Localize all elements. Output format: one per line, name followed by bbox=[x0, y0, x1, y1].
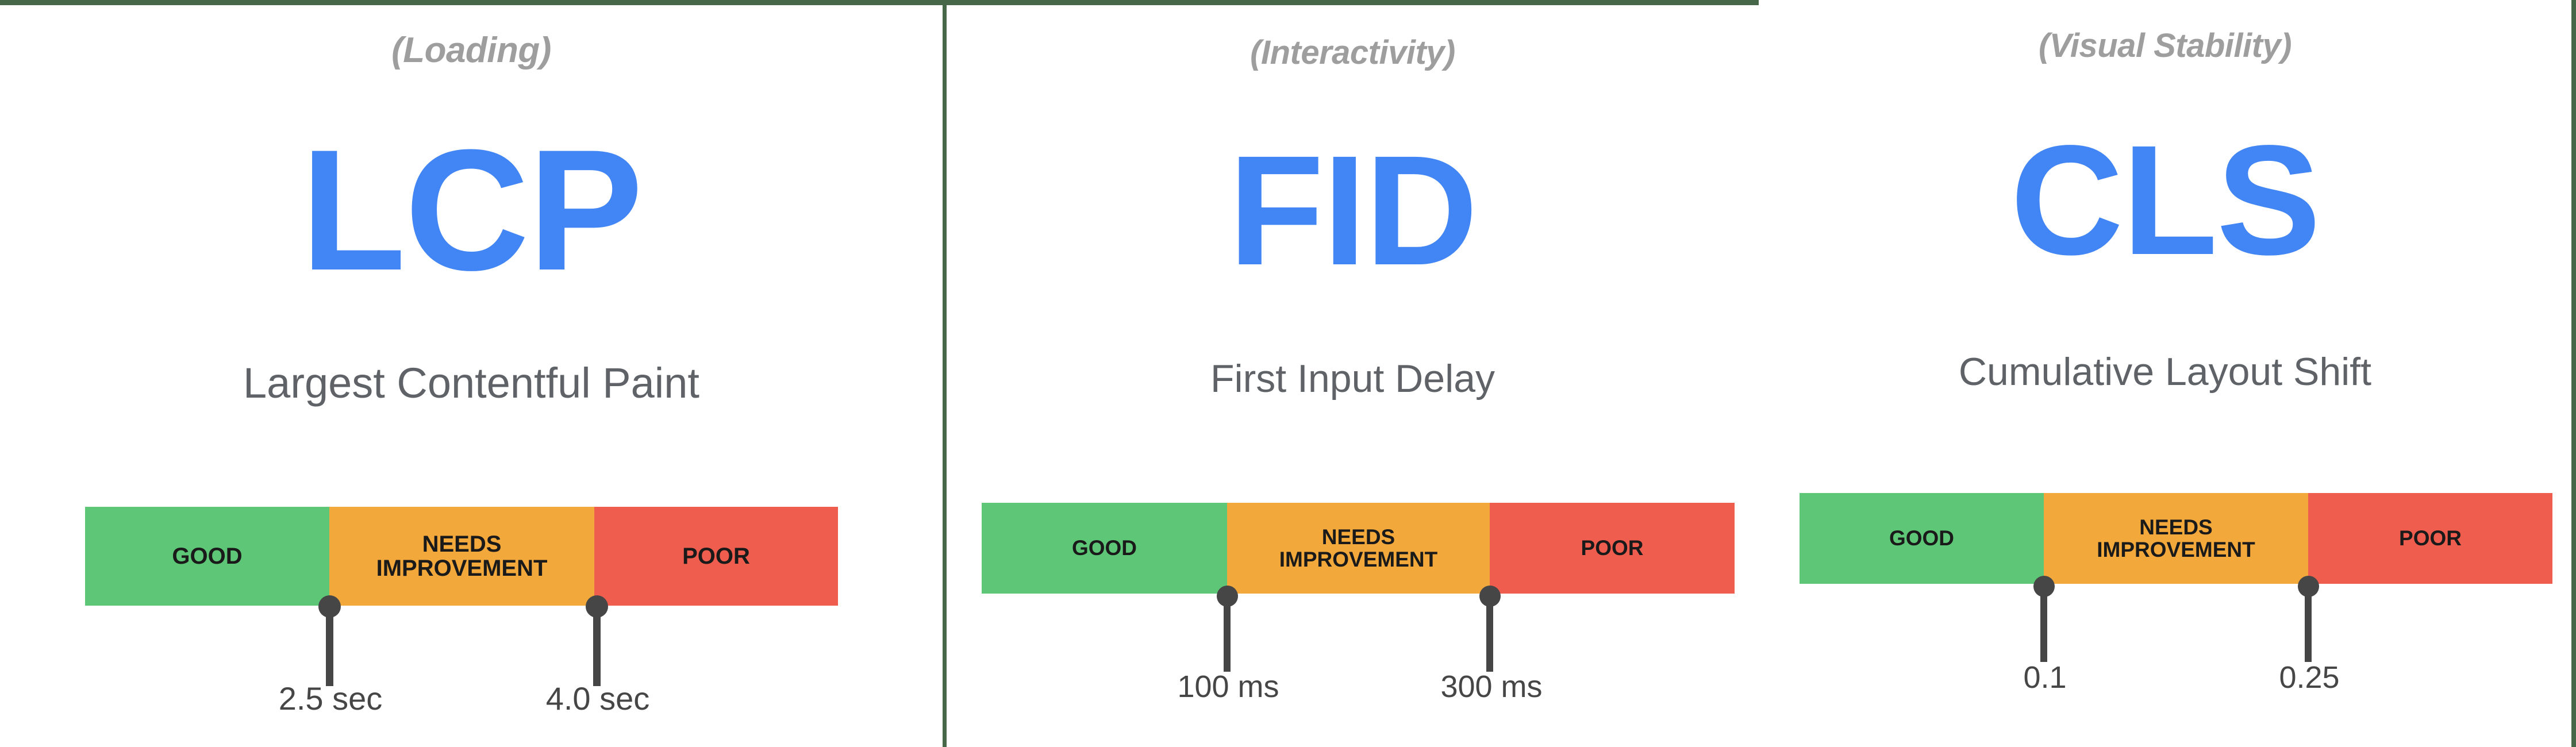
segment-needs-line1: NEEDS bbox=[1322, 525, 1395, 549]
metric-full-name: Largest Contentful Paint bbox=[0, 359, 943, 407]
threshold-label-first: 100 ms bbox=[1177, 669, 1279, 704]
segment-needs-improvement: NEEDS IMPROVEMENT bbox=[329, 507, 594, 606]
threshold-label-second: 4.0 sec bbox=[546, 680, 650, 717]
segment-needs-improvement: NEEDS IMPROVEMENT bbox=[2044, 493, 2308, 584]
metric-acronym: CLS bbox=[1759, 122, 2571, 278]
threshold-label-first: 0.1 bbox=[2023, 660, 2066, 695]
threshold-label-second: 300 ms bbox=[1440, 669, 1542, 704]
metric-acronym: LCP bbox=[0, 124, 943, 296]
segment-needs-line1: NEEDS bbox=[2139, 515, 2212, 539]
marker-stem bbox=[593, 613, 601, 686]
metric-category-label: (Visual Stability) bbox=[1759, 26, 2571, 65]
segment-needs-line2: IMPROVEMENT bbox=[1279, 548, 1437, 571]
segment-good: GOOD bbox=[1800, 493, 2044, 584]
segment-poor: POOR bbox=[1490, 503, 1735, 594]
marker-stem bbox=[1224, 602, 1231, 672]
metric-full-name: First Input Delay bbox=[947, 356, 1759, 401]
threshold-bar: GOOD NEEDS IMPROVEMENT POOR bbox=[982, 503, 1735, 594]
metric-category-label: (Interactivity) bbox=[947, 33, 1759, 72]
panel-divider-left bbox=[943, 0, 947, 747]
segment-needs-line1: NEEDS bbox=[422, 532, 502, 557]
core-web-vitals-infographic: (Loading) LCP Largest Contentful Paint G… bbox=[0, 0, 2576, 747]
marker-stem bbox=[1486, 602, 1493, 672]
threshold-bar: GOOD NEEDS IMPROVEMENT POOR bbox=[1800, 493, 2552, 584]
threshold-label-first: 2.5 sec bbox=[279, 680, 383, 717]
marker-stem bbox=[326, 613, 333, 686]
marker-stem bbox=[2040, 592, 2047, 662]
metric-panel-fid: (Interactivity) FID First Input Delay GO… bbox=[947, 0, 1759, 747]
segment-poor: POOR bbox=[2308, 493, 2552, 584]
metric-panel-cls: (Visual Stability) CLS Cumulative Layout… bbox=[1759, 0, 2571, 747]
segment-poor: POOR bbox=[594, 507, 838, 606]
metric-category-label: (Loading) bbox=[0, 30, 943, 71]
segment-good: GOOD bbox=[85, 507, 329, 606]
segment-needs-improvement: NEEDS IMPROVEMENT bbox=[1227, 503, 1490, 594]
panel-divider-right bbox=[2571, 0, 2576, 747]
segment-needs-line2: IMPROVEMENT bbox=[376, 556, 548, 581]
marker-stem bbox=[2305, 592, 2312, 662]
segment-needs-line2: IMPROVEMENT bbox=[2097, 538, 2255, 561]
threshold-bar: GOOD NEEDS IMPROVEMENT POOR bbox=[85, 507, 838, 606]
metric-panel-lcp: (Loading) LCP Largest Contentful Paint G… bbox=[0, 0, 943, 747]
metric-full-name: Cumulative Layout Shift bbox=[1759, 349, 2571, 394]
threshold-label-second: 0.25 bbox=[2279, 660, 2339, 695]
segment-good: GOOD bbox=[982, 503, 1227, 594]
metric-acronym: FID bbox=[947, 132, 1759, 288]
